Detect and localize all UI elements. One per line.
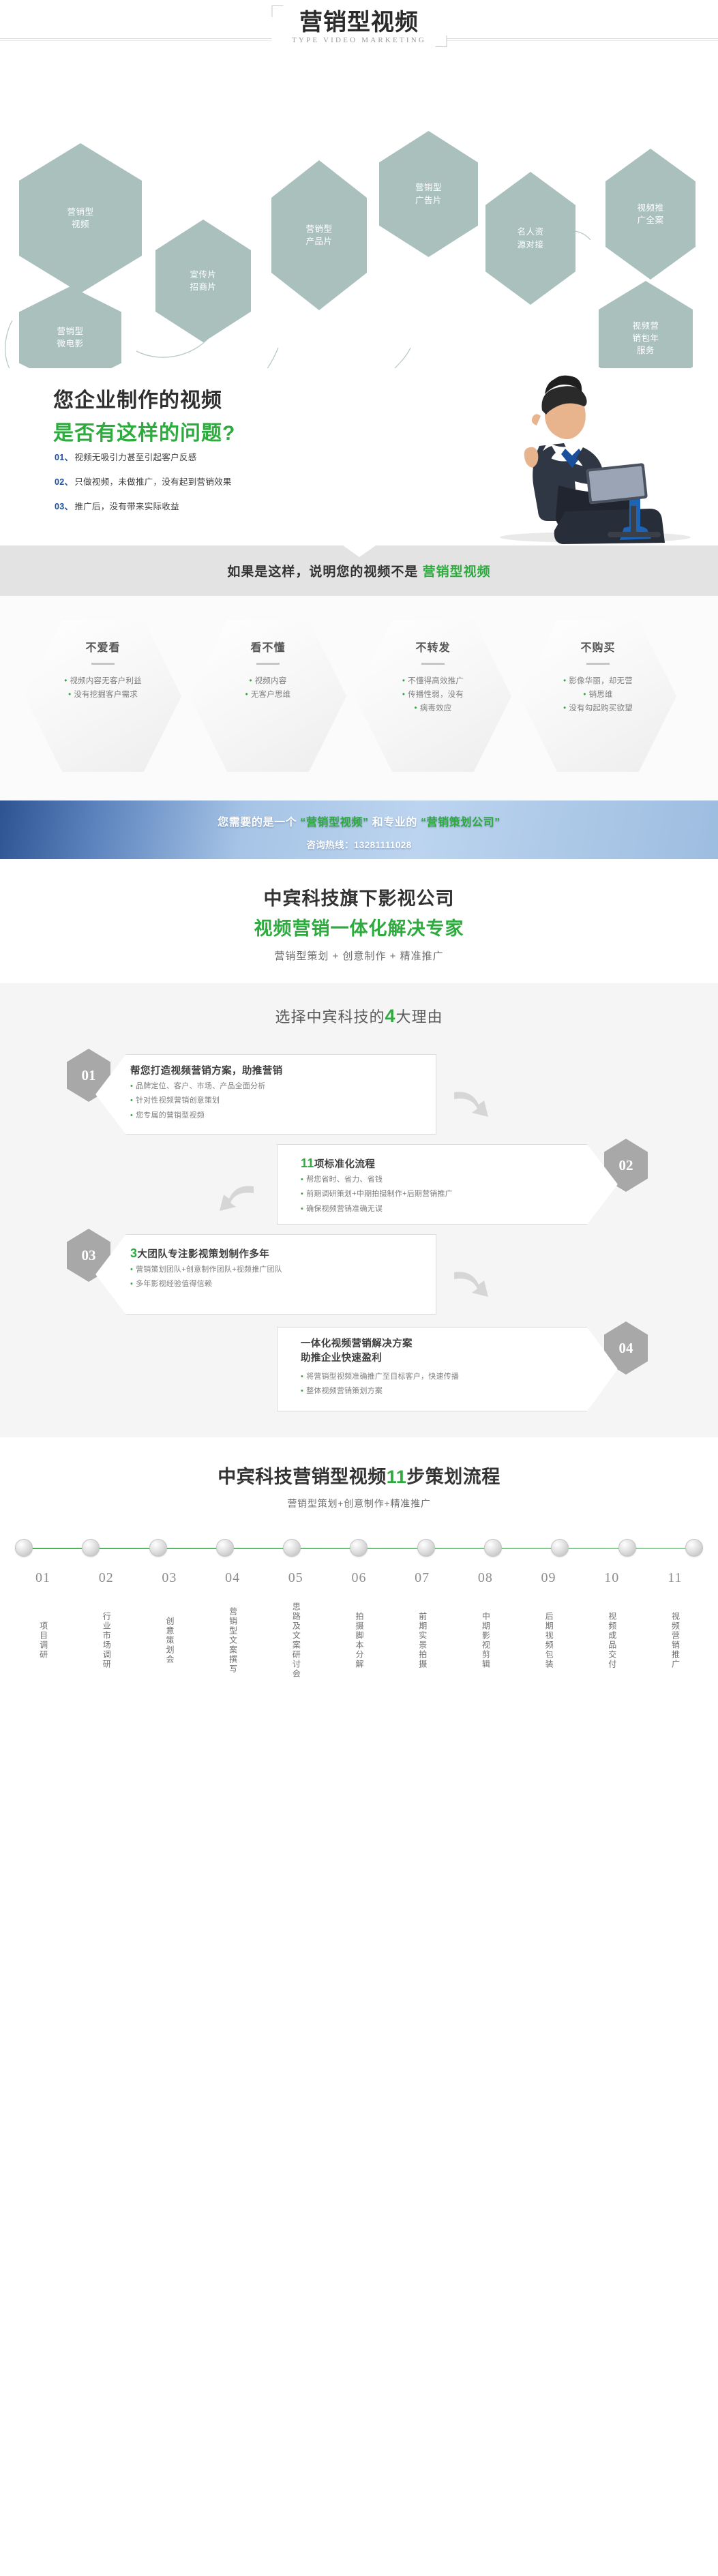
bullet-cont: 病毒效应 [361, 702, 505, 715]
problem-item-3-num: 03、 [55, 502, 73, 511]
step-number: 03 [141, 1570, 197, 1586]
step-item[interactable]: 04 营销型文案撰写 [205, 1570, 260, 1692]
steps-timeline [15, 1533, 703, 1563]
problem-item-3-text: 推广后，没有带来实际收益 [74, 502, 179, 511]
step-label: 视频营销推广 [668, 1593, 681, 1688]
step-item[interactable]: 09 后期视频包装 [521, 1570, 577, 1692]
bullet: 没有勾起购买欲望 [526, 702, 670, 715]
problem-list: 01、视频无吸引力甚至引起客户反感 02、只做视频，未做推广，没有起到营销效果 … [55, 450, 232, 524]
problem-heading: 您企业制作的视频 是否有这样的问题? [53, 383, 235, 446]
cta-part1: 您需要的是一个 [218, 817, 300, 828]
step-number: 01 [15, 1570, 71, 1586]
service-hexagon-cluster: 营销型视频 宣传片招商片 营销型产品片 营销型广告片 名人资源对接 视频推广全案… [0, 95, 718, 368]
flow-arrow-down-right-icon-2 [453, 1268, 492, 1300]
marketing-landing-page: 营销型视频 TYPE VIDEO MARKETING 营销型视频 [0, 0, 718, 1715]
timeline-dot [618, 1539, 636, 1557]
problem-hex-3[interactable]: 不转发 不懂得高效推广 传播性弱，没有 病毒效应 [361, 638, 505, 715]
step-item[interactable]: 11 视频营销推广 [647, 1570, 703, 1692]
bullet: 整体视频营销策划方案 [301, 1384, 583, 1398]
step-number: 11 [647, 1570, 703, 1586]
hex-service-2[interactable]: 宣传片招商片 [155, 220, 251, 342]
timeline-dot [350, 1539, 368, 1557]
bullet: 视频内容 [196, 674, 340, 688]
reason-row-1: 01 帮您打造视频营销方案，助推营销 品牌定位、客户、市场、产品全面分析 针对性… [0, 1045, 718, 1135]
reason-card-03[interactable]: 3大团队专注影视策划制作多年 营销策划团队+创意制作团队+视频推广团队 多年影视… [95, 1234, 436, 1315]
banner-text: 如果是这样，说明您的视频不是 营销型视频 [0, 562, 718, 580]
divider-dash [421, 663, 445, 665]
company-services: 营销型策划 + 创意制作 + 精准推广 [0, 948, 718, 963]
reason-card-03-num: 3 [130, 1246, 137, 1260]
step-number: 05 [268, 1570, 324, 1586]
cta-quote2: “营销策划公司” [421, 817, 500, 828]
bullet: 没有挖掘客户需求 [31, 688, 175, 702]
steps-title-prefix: 中宾科技营销型视频 [218, 1467, 387, 1487]
step-number: 02 [78, 1570, 134, 1586]
banner-notch-icon [343, 545, 376, 557]
hex-service-2-label: 宣传片招商片 [184, 269, 222, 293]
step-label: 思路及文案研讨会 [289, 1593, 302, 1688]
reason-card-02-title: 项标准化流程 [314, 1159, 375, 1170]
reasons-title-num: 4 [385, 1006, 395, 1026]
hex-service-5-label: 名人资源对接 [511, 226, 549, 250]
timeline-dot [283, 1539, 301, 1557]
steps-grid: 01 项目调研 02 行业市场调研 03 创意策划会 04 营销型文案撰写 05… [15, 1570, 703, 1692]
reason-card-01-bullets: 品牌定位、客户、市场、产品全面分析 针对性视频营销创意策划 您专属的营销型视频 [130, 1079, 422, 1122]
divider-dash [256, 663, 280, 665]
steps-title-num: 11 [387, 1467, 407, 1487]
problem-hex-2[interactable]: 看不懂 视频内容 无客户思维 [196, 638, 340, 702]
hex-service-5[interactable]: 名人资源对接 [485, 172, 575, 305]
hex-service-1-label: 营销型视频 [61, 206, 99, 230]
problem-item-2: 02、只做视频，未做推广，没有起到营销效果 [55, 475, 232, 488]
step-label: 营销型文案撰写 [226, 1593, 239, 1688]
hex-service-6[interactable]: 视频推广全案 [605, 149, 695, 280]
steps-title: 中宾科技营销型视频11步策划流程 [0, 1462, 718, 1488]
reasons-section: 选择中宾科技的4大理由 01 帮您打造视频营销方案，助推营销 品牌定位、客户、市… [0, 983, 718, 1437]
problem-item-1-text: 视频无吸引力甚至引起客户反感 [74, 453, 196, 462]
bullet: 营销策划团队+创意制作团队+视频推广团队 [130, 1263, 422, 1276]
reason-card-04-heading: 一体化视频营销解决方案 助推企业快速盈利 [301, 1337, 583, 1366]
reason-card-02-num: 11 [301, 1156, 314, 1170]
reason-row-4: 04 一体化视频营销解决方案 助推企业快速盈利 将营销型视频准确推广至目标客户，… [0, 1315, 718, 1410]
step-item[interactable]: 02 行业市场调研 [78, 1570, 134, 1692]
bullet: 前期调研策划+中期拍摄制作+后期营销推广 [301, 1187, 583, 1201]
steps-subtitle: 营销型策划+创意制作+精准推广 [0, 1497, 718, 1510]
step-number: 10 [584, 1570, 640, 1586]
bullet: 您专属的营销型视频 [130, 1109, 422, 1122]
problem-heading-line1: 您企业制作的视频 [53, 383, 235, 413]
reason-card-02[interactable]: 11项标准化流程 帮您省时、省力、省钱 前期调研策划+中期拍摄制作+后期营销推广… [277, 1144, 618, 1225]
page-title: 营销型视频 [292, 10, 426, 35]
problem-hexagons-section: 不爱看 视频内容无客户利益 没有挖掘客户需求 看不懂 视频内容 无客户思维 不转… [0, 596, 718, 800]
problem-hex-2-heading: 看不懂 [196, 638, 340, 655]
step-number: 07 [394, 1570, 450, 1586]
problem-hex-4-heading: 不购买 [526, 638, 670, 655]
hex-service-4[interactable]: 营销型广告片 [379, 131, 478, 257]
problem-hex-4-bullets: 影像华丽，却无营 销思维 没有勾起购买欲望 [526, 674, 670, 715]
bullet: 品牌定位、客户、市场、产品全面分析 [130, 1079, 422, 1093]
step-item[interactable]: 07 前期实景拍摄 [394, 1570, 450, 1692]
step-label: 视频成品交付 [605, 1593, 618, 1688]
hex-service-6-label: 视频推广全案 [631, 202, 669, 226]
step-item[interactable]: 10 视频成品交付 [584, 1570, 640, 1692]
problem-item-2-num: 02、 [55, 477, 73, 487]
problem-hex-1-bullets: 视频内容无客户利益 没有挖掘客户需求 [31, 674, 175, 702]
problem-item-3: 03、推广后，没有带来实际收益 [55, 499, 232, 512]
bullet: 影像华丽，却无营 [526, 674, 670, 688]
step-item[interactable]: 05 思路及文案研讨会 [268, 1570, 324, 1692]
problem-item-1: 01、视频无吸引力甚至引起客户反感 [55, 450, 232, 463]
problem-hex-3-bullets: 不懂得高效推广 传播性弱，没有 病毒效应 [361, 674, 505, 715]
company-intro-section: 中宾科技旗下影视公司 视频营销一体化解决专家 营销型策划 + 创意制作 + 精准… [0, 859, 718, 983]
cta-headline: 您需要的是一个 “营销型视频” 和专业的 “营销策划公司” [0, 813, 718, 829]
reason-row-3: 03 3大团队专注影视策划制作多年 营销策划团队+创意制作团队+视频推广团队 多… [0, 1225, 718, 1315]
divider-dash [91, 663, 115, 665]
problem-statement-section: 您企业制作的视频 是否有这样的问题? 01、视频无吸引力甚至引起客户反感 02、… [0, 368, 718, 545]
timeline-dot [216, 1539, 234, 1557]
bullet: 针对性视频营销创意策划 [130, 1094, 422, 1107]
cta-part2: 和专业的 [369, 817, 421, 828]
step-label: 中期影视剪辑 [479, 1593, 492, 1688]
hex-service-4-label: 营销型广告片 [410, 181, 447, 206]
reason-card-02-bullets: 帮您省时、省力、省钱 前期调研策划+中期拍摄制作+后期营销推广 确保视频营销准确… [301, 1173, 583, 1216]
reasons-title-suffix: 大理由 [396, 1008, 443, 1025]
reason-card-03-heading: 3大团队专注影视策划制作多年 [130, 1244, 422, 1262]
flow-arrow-down-left-icon [215, 1182, 255, 1214]
bullet: 无客户思维 [196, 688, 340, 702]
bullet-cont: 销思维 [526, 688, 670, 702]
bullet: 确保视频营销准确无误 [301, 1202, 583, 1216]
step-label: 创意策划会 [163, 1593, 176, 1688]
problem-item-2-text: 只做视频，未做推广，没有起到营销效果 [74, 477, 231, 487]
step-number: 06 [331, 1570, 387, 1586]
bullet: 传播性弱，没有 [361, 688, 505, 702]
problem-heading-line2: 是否有这样的问题? [53, 416, 235, 446]
reason-card-01-heading: 帮您打造视频营销方案，助推营销 [130, 1064, 422, 1079]
timeline-dot [417, 1539, 435, 1557]
divider-dash [586, 663, 610, 665]
timeline-dot [685, 1539, 703, 1557]
page-subtitle-en: TYPE VIDEO MARKETING [292, 36, 426, 44]
timeline-dot [551, 1539, 569, 1557]
reason-card-04-bullets: 将营销型视频准确推广至目标客户，快速传播 整体视频营销策划方案 [301, 1370, 583, 1398]
step-label: 后期视频包装 [542, 1593, 555, 1688]
reason-card-01[interactable]: 帮您打造视频营销方案，助推营销 品牌定位、客户、市场、产品全面分析 针对性视频营… [95, 1054, 436, 1135]
hex-service-3[interactable]: 营销型产品片 [271, 160, 367, 310]
bullet: 多年影视经验值得信赖 [130, 1277, 422, 1291]
step-item[interactable]: 03 创意策划会 [141, 1570, 197, 1692]
bullet: 帮您省时、省力、省钱 [301, 1173, 583, 1186]
businessman-photo [425, 365, 704, 544]
problem-hex-1-heading: 不爱看 [31, 638, 175, 655]
banner-text-highlight: 营销型视频 [423, 565, 491, 580]
reasons-title: 选择中宾科技的4大理由 [0, 1005, 718, 1027]
step-number: 09 [521, 1570, 577, 1586]
step-item[interactable]: 06 拍摄脚本分解 [331, 1570, 387, 1692]
reason-card-02-heading: 11项标准化流程 [301, 1154, 583, 1172]
timeline-dots [15, 1539, 703, 1557]
cta-hotline[interactable]: 咨询热线：13281111028 [0, 837, 718, 851]
hero-section: 营销型视频 TYPE VIDEO MARKETING [0, 0, 718, 95]
steps-title-suffix: 步策划流程 [406, 1467, 500, 1487]
hex-service-7-label: 营销型微电影 [51, 325, 89, 350]
step-label: 行业市场调研 [100, 1593, 113, 1688]
timeline-dot [149, 1539, 167, 1557]
timeline-dot [15, 1539, 33, 1557]
banner-text-prefix: 如果是这样，说明您的视频不是 [227, 565, 422, 580]
problem-item-1-num: 01、 [55, 453, 73, 462]
hex-service-1[interactable]: 营销型视频 [19, 143, 142, 293]
bullet: 将营销型视频准确推广至目标客户，快速传播 [301, 1370, 583, 1383]
problem-hex-4[interactable]: 不购买 影像华丽，却无营 销思维 没有勾起购买欲望 [526, 638, 670, 715]
step-label: 项目调研 [36, 1593, 49, 1688]
flow-arrow-down-right-icon [453, 1088, 492, 1120]
step-label: 前期实景拍摄 [416, 1593, 429, 1688]
conclusion-banner: 如果是这样，说明您的视频不是 营销型视频 [0, 545, 718, 596]
step-label: 拍摄脚本分解 [353, 1593, 365, 1688]
cta-banner: 您需要的是一个 “营销型视频” 和专业的 “营销策划公司” 咨询热线：13281… [0, 800, 718, 859]
reason-card-03-title: 大团队专注影视策划制作多年 [137, 1249, 269, 1260]
problem-hex-1[interactable]: 不爱看 视频内容无客户利益 没有挖掘客户需求 [31, 638, 175, 702]
problem-hex-2-bullets: 视频内容 无客户思维 [196, 674, 340, 702]
company-name: 中宾科技旗下影视公司 [0, 884, 718, 910]
process-steps-section: 中宾科技营销型视频11步策划流程 营销型策划+创意制作+精准推广 01 [0, 1437, 718, 1715]
bullet: 视频内容无客户利益 [31, 674, 175, 688]
company-tagline: 视频营销一体化解决专家 [0, 914, 718, 940]
hex-service-3-label: 营销型产品片 [300, 223, 338, 248]
step-item[interactable]: 01 项目调研 [15, 1570, 71, 1692]
bullet: 不懂得高效推广 [361, 674, 505, 688]
cta-quote1: “营销型视频” [300, 817, 368, 828]
reason-row-2: 02 11项标准化流程 帮您省时、省力、省钱 前期调研策划+中期拍摄制作+后期营… [0, 1135, 718, 1225]
reason-card-03-bullets: 营销策划团队+创意制作团队+视频推广团队 多年影视经验值得信赖 [130, 1263, 422, 1291]
timeline-dot [484, 1539, 502, 1557]
step-number: 08 [458, 1570, 513, 1586]
page-title-box: 营销型视频 TYPE VIDEO MARKETING [271, 5, 447, 47]
reasons-title-prefix: 选择中宾科技的 [275, 1008, 385, 1025]
reason-card-04[interactable]: 一体化视频营销解决方案 助推企业快速盈利 将营销型视频准确推广至目标客户，快速传… [277, 1327, 618, 1411]
problem-hex-3-heading: 不转发 [361, 638, 505, 655]
step-item[interactable]: 08 中期影视剪辑 [458, 1570, 513, 1692]
hex-service-8-label: 视频营销包年服务 [627, 320, 664, 357]
timeline-dot [82, 1539, 100, 1557]
step-number: 04 [205, 1570, 260, 1586]
